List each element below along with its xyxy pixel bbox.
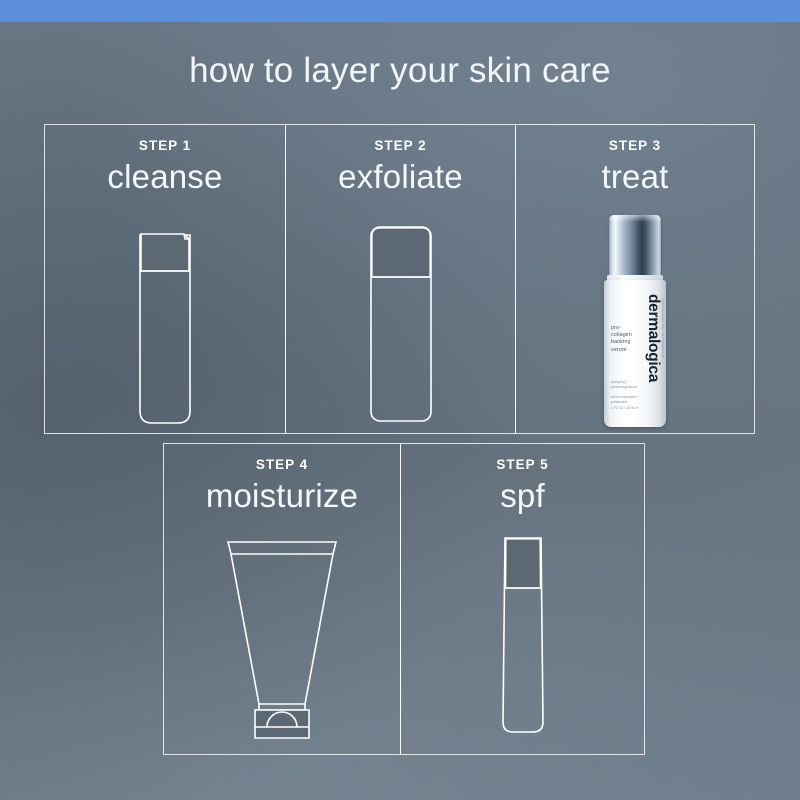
step-number-label: STEP 1 <box>45 137 285 155</box>
step-name-label: cleanse <box>45 157 285 197</box>
product-illustration-exfoliate <box>286 215 515 427</box>
step-name-label: exfoliate <box>286 157 515 197</box>
step-card-heading: STEP 1 cleanse <box>45 137 285 197</box>
serum-bottle-body: dermalogica professional skin care • der… <box>604 280 666 427</box>
product-illustration-moisturize <box>164 536 400 744</box>
step-number-label: STEP 3 <box>516 137 754 155</box>
step-card-heading: STEP 5 spf <box>401 456 644 516</box>
step-number-label: STEP 5 <box>401 456 644 474</box>
step-card-heading: STEP 3 treat <box>516 137 754 197</box>
step-card-moisturize[interactable]: STEP 4 moisturize <box>163 443 401 755</box>
infographic-canvas: how to layer your skin care STEP 1 clean… <box>0 0 800 800</box>
page-title: how to layer your skin care <box>0 50 800 92</box>
step-card-cleanse[interactable]: STEP 1 cleanse <box>44 124 286 434</box>
step-name-label: spf <box>401 476 644 516</box>
step-number-label: STEP 2 <box>286 137 515 155</box>
steps-row-top: STEP 1 cleanse STEP 2 exfo <box>44 124 755 434</box>
step-number-label: STEP 4 <box>164 456 400 474</box>
step-card-heading: STEP 4 moisturize <box>164 456 400 516</box>
step-card-treat[interactable]: STEP 3 treat dermalogica professional sk… <box>515 124 755 434</box>
step-card-heading: STEP 2 exfoliate <box>286 137 515 197</box>
serum-bottle-cap <box>609 215 661 277</box>
serum-brand-name: dermalogica <box>646 294 662 382</box>
serum-product-name: pro- collagen banking serum <box>611 325 632 354</box>
step-card-exfoliate[interactable]: STEP 2 exfoliate <box>285 124 516 434</box>
top-accent-bar <box>0 0 800 22</box>
serum-size-text: 1 FL OZ / 30 mL e <box>611 406 638 411</box>
product-illustration-cleanse <box>45 221 285 427</box>
serum-descriptor: plumping + preserving serum sérum repulp… <box>611 380 638 405</box>
step-card-spf[interactable]: STEP 5 spf <box>400 443 645 755</box>
step-name-label: treat <box>516 157 754 197</box>
serum-bottle: dermalogica professional skin care • der… <box>604 215 666 427</box>
product-illustration-spf <box>401 526 644 744</box>
steps-row-bottom: STEP 4 moisturize <box>163 443 645 755</box>
product-photo-treat: dermalogica professional skin care • der… <box>516 213 754 427</box>
serum-side-fine-print: professional skin care • dermalogica.com <box>661 298 664 358</box>
step-name-label: moisturize <box>164 476 400 516</box>
